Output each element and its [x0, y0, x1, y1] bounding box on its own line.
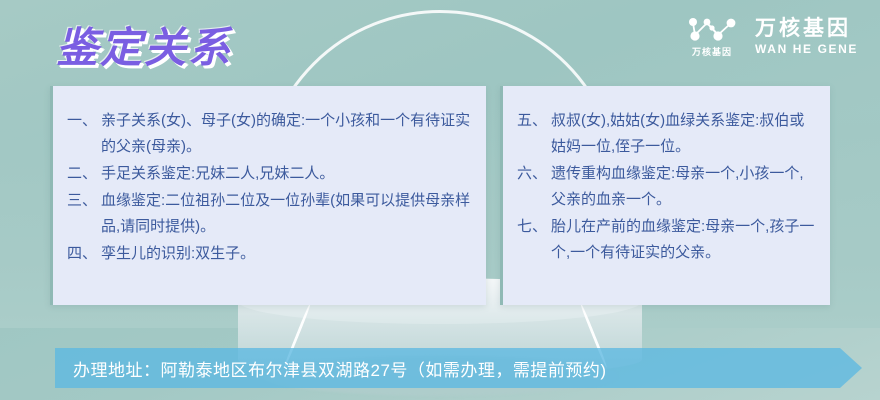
- list-item: 一、 亲子关系(女)、母子(女)的确定:一个小孩和一个有待证实的父亲(母亲)。: [67, 108, 472, 160]
- list-item-text: 孪生儿的识别:双生子。: [101, 241, 472, 267]
- list-item-number: 二、: [67, 161, 101, 187]
- right-card: 五、 叔叔(女),姑姑(女)血绿关系鉴定:叔伯或姑妈一位,侄子一位。 六、 遗传…: [500, 86, 830, 305]
- brand-mark-label: 万核基因: [692, 45, 732, 58]
- list-item-text: 遗传重构血缘鉴定:母亲一个,小孩一个,父亲的血亲一个。: [551, 161, 816, 213]
- brand-name-cn: 万核基因: [755, 18, 858, 40]
- molecule-network-icon: [685, 16, 739, 42]
- list-item-number: 五、: [517, 108, 551, 134]
- list-item: 三、 血缘鉴定:二位祖孙二位及一位孙辈(如果可以提供母亲样品,请同时提供)。: [67, 188, 472, 240]
- list-item-text: 胎儿在产前的血缘鉴定:母亲一个,孩子一个,一个有待证实的父亲。: [551, 214, 816, 266]
- page-title: 鉴定关系: [56, 14, 232, 75]
- poster-canvas: 鉴定关系: [0, 0, 880, 400]
- brand-mark: 万核基因: [685, 16, 739, 58]
- list-item-text: 亲子关系(女)、母子(女)的确定:一个小孩和一个有待证实的父亲(母亲)。: [101, 108, 472, 160]
- footer-address-text: 办理地址：阿勒泰地区布尔津县双湖路27号（如需办理，需提前预约): [55, 356, 607, 381]
- list-item-number: 七、: [517, 214, 551, 240]
- list-item: 五、 叔叔(女),姑姑(女)血绿关系鉴定:叔伯或姑妈一位,侄子一位。: [517, 108, 816, 160]
- left-card-list: 一、 亲子关系(女)、母子(女)的确定:一个小孩和一个有待证实的父亲(母亲)。 …: [53, 86, 486, 267]
- list-item: 四、 孪生儿的识别:双生子。: [67, 241, 472, 267]
- list-item-text: 手足关系鉴定:兄妹二人,兄妹二人。: [101, 161, 472, 187]
- brand-logo: 万核基因 万核基因 WAN HE GENE: [685, 16, 858, 58]
- left-card: 一、 亲子关系(女)、母子(女)的确定:一个小孩和一个有待证实的父亲(母亲)。 …: [50, 86, 486, 305]
- list-item: 七、 胎儿在产前的血缘鉴定:母亲一个,孩子一个,一个有待证实的父亲。: [517, 214, 816, 266]
- list-item-text: 血缘鉴定:二位祖孙二位及一位孙辈(如果可以提供母亲样品,请同时提供)。: [101, 188, 472, 240]
- list-item-number: 一、: [67, 108, 101, 134]
- list-item-number: 三、: [67, 188, 101, 214]
- right-card-list: 五、 叔叔(女),姑姑(女)血绿关系鉴定:叔伯或姑妈一位,侄子一位。 六、 遗传…: [503, 86, 830, 266]
- footer-address-ribbon: 办理地址：阿勒泰地区布尔津县双湖路27号（如需办理，需提前预约): [55, 348, 862, 388]
- list-item: 六、 遗传重构血缘鉴定:母亲一个,小孩一个,父亲的血亲一个。: [517, 161, 816, 213]
- list-item-number: 四、: [67, 241, 101, 267]
- list-item-number: 六、: [517, 161, 551, 187]
- list-item-text: 叔叔(女),姑姑(女)血绿关系鉴定:叔伯或姑妈一位,侄子一位。: [551, 108, 816, 160]
- brand-wordmark: 万核基因 WAN HE GENE: [755, 18, 858, 56]
- list-item: 二、 手足关系鉴定:兄妹二人,兄妹二人。: [67, 161, 472, 187]
- brand-name-en: WAN HE GENE: [755, 42, 858, 56]
